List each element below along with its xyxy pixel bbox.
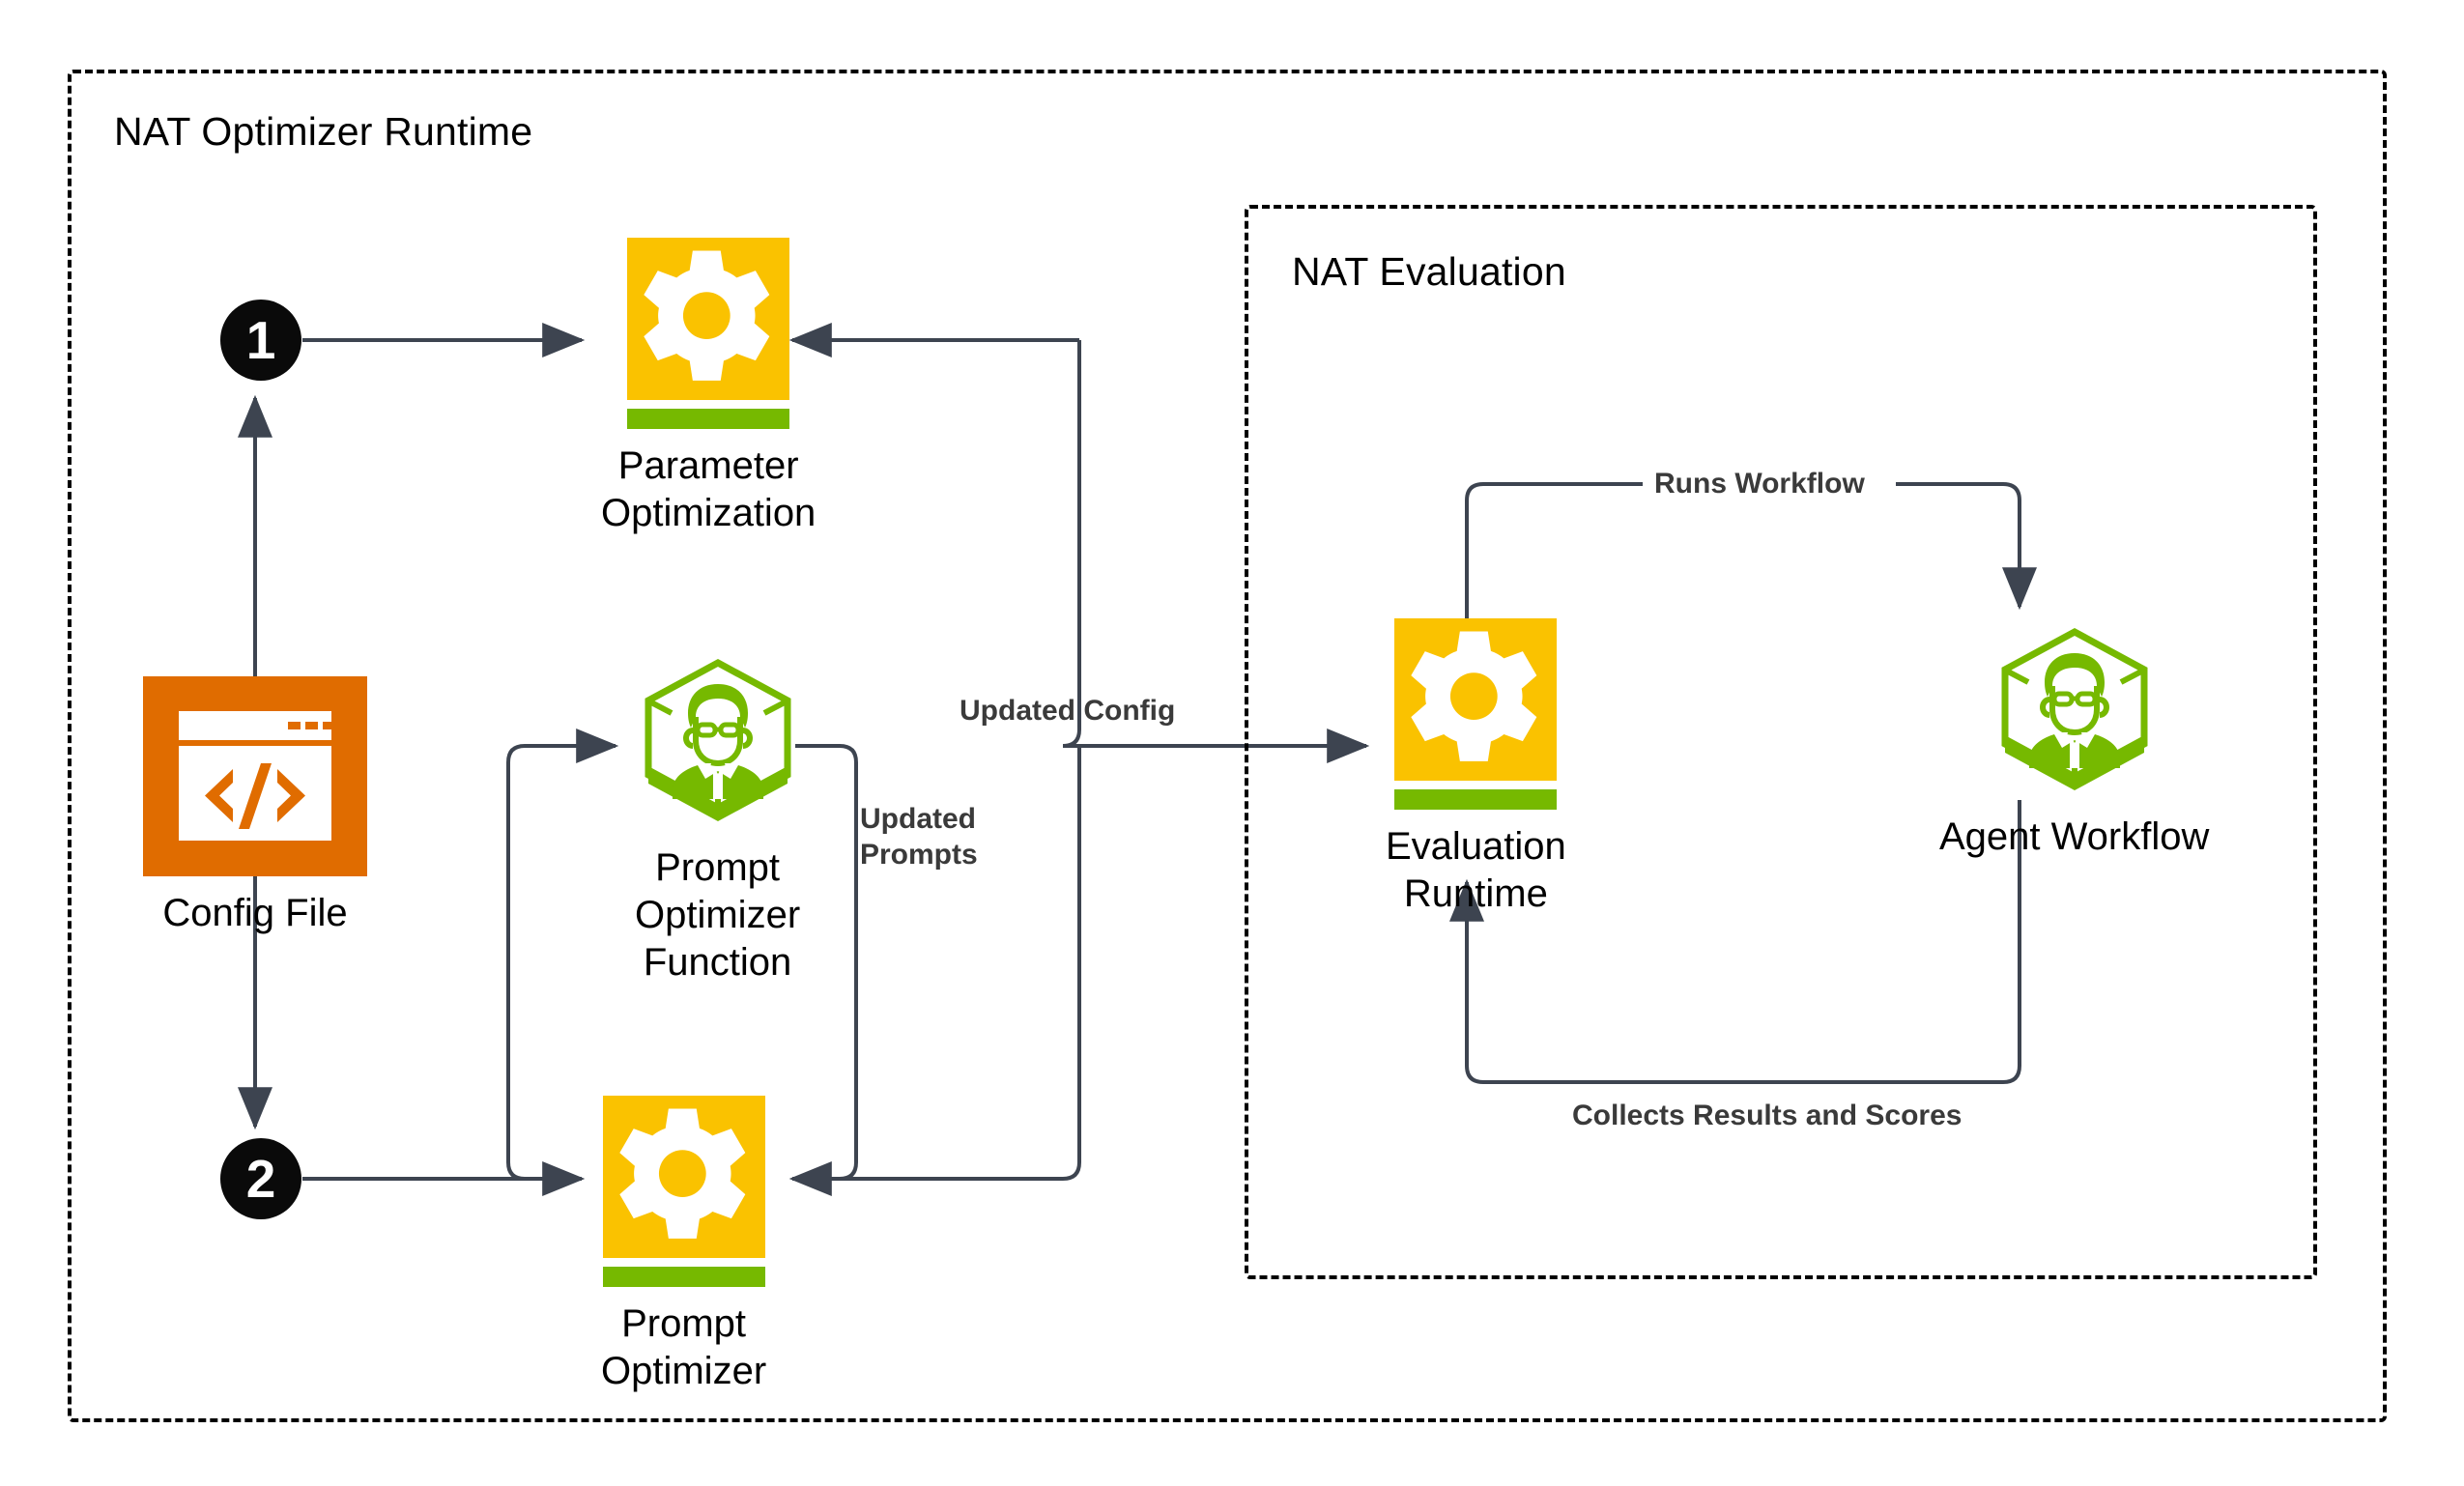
gear-tile	[603, 1096, 765, 1287]
gear-tile	[1394, 618, 1557, 810]
gear-tile	[627, 238, 789, 429]
node-label: Parameter Optimization	[601, 443, 816, 537]
edge-label-collects-results: Collects Results and Scores	[1572, 1099, 1962, 1134]
agent-hexagon-icon	[638, 657, 798, 831]
gear-icon	[603, 1096, 765, 1258]
gear-underbar	[1394, 789, 1557, 810]
step-badge-1: 1	[220, 300, 301, 381]
gear-underbar	[603, 1267, 765, 1287]
step-badge-2: 2	[220, 1138, 301, 1219]
group-title-evaluation: NAT Evaluation	[1292, 249, 1566, 295]
gear-underbar	[627, 409, 789, 429]
node-prompt-optimizer[interactable]: Prompt Optimizer	[601, 1096, 766, 1395]
node-prompt-optimizer-function[interactable]: Prompt Optimizer Function	[635, 657, 800, 986]
node-config-file[interactable]: Config File	[143, 676, 367, 937]
edge-label-updated-config: Updated Config	[960, 694, 1175, 729]
node-label: Agent Workflow	[1939, 814, 2209, 861]
node-label: Config File	[162, 890, 347, 937]
node-parameter-optimization[interactable]: Parameter Optimization	[601, 238, 816, 537]
diagram-canvas: NAT Optimizer Runtime NAT Evaluation 1 2…	[0, 0, 2464, 1486]
gear-icon	[1394, 618, 1557, 781]
group-title-optimizer: NAT Optimizer Runtime	[114, 109, 532, 155]
edge-label-updated-prompts: Updated Prompts	[860, 802, 978, 872]
code-window-icon	[143, 676, 367, 876]
node-label: Evaluation Runtime	[1386, 823, 1566, 918]
node-agent-workflow[interactable]: Agent Workflow	[1939, 626, 2209, 861]
node-evaluation-runtime[interactable]: Evaluation Runtime	[1386, 618, 1566, 918]
node-label: Prompt Optimizer Function	[635, 844, 800, 986]
agent-hexagon-icon	[1994, 626, 2155, 800]
edge-label-runs-workflow: Runs Workflow	[1654, 467, 1865, 502]
gear-icon	[627, 238, 789, 400]
node-label: Prompt Optimizer	[601, 1300, 766, 1395]
